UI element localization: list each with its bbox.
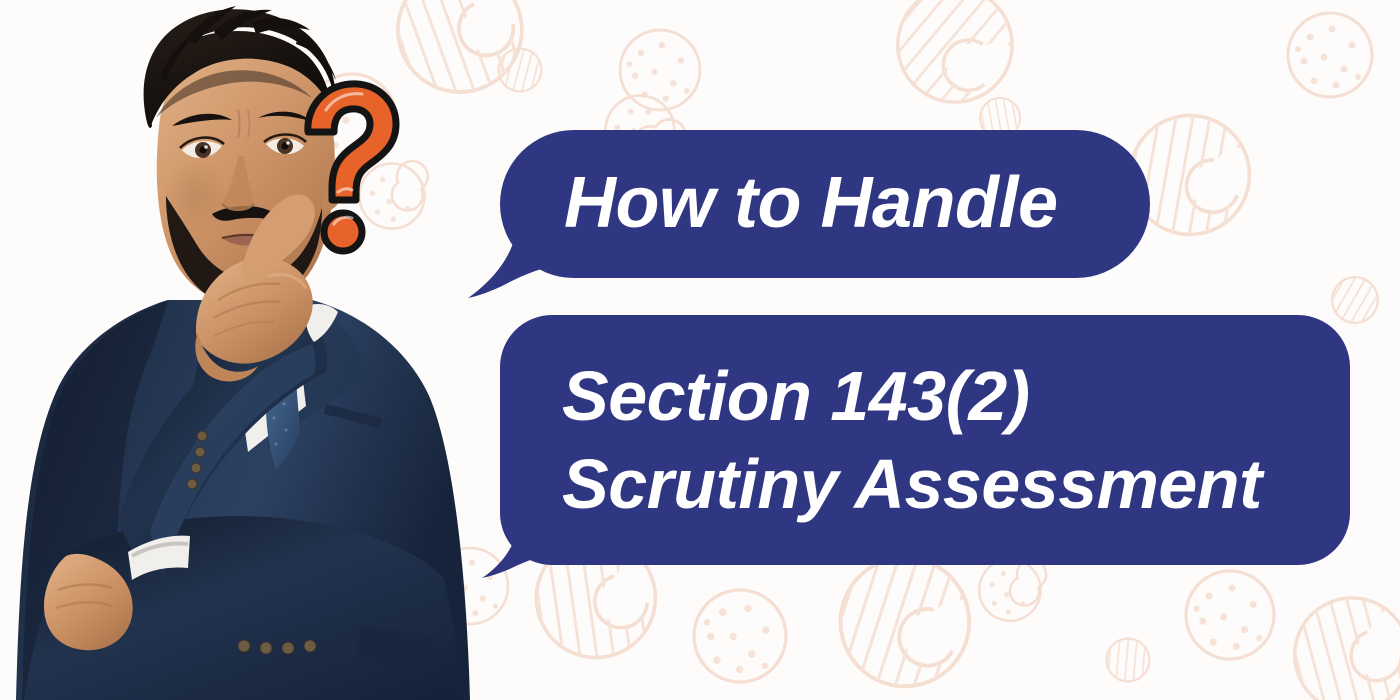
subject-text: Section 143(2) Scrutiny Assessment xyxy=(562,352,1262,528)
cookie-shape-dotted-cookie xyxy=(1186,571,1274,659)
person-photo-thinking-businessman xyxy=(0,0,520,700)
cookie-shape-dotted-cookie xyxy=(1288,13,1372,97)
cookie-shape-striped-cookie xyxy=(1279,574,1400,700)
question-mark-icon xyxy=(296,76,406,266)
banner-canvas: How to Handle Section 143(2) Scrutiny As… xyxy=(0,0,1400,700)
cookie-shape-striped-circle xyxy=(1104,630,1152,691)
speech-bubble-headline: How to Handle xyxy=(500,130,1150,278)
cookie-shape-dotted-cookie xyxy=(620,30,700,110)
cookie-shape-dotted-cookie xyxy=(685,581,794,690)
headline-text: How to Handle xyxy=(564,167,1058,240)
subject-line-2: Scrutiny Assessment xyxy=(562,440,1262,528)
cookie-shape-striped-cookie xyxy=(867,0,1043,134)
speech-bubble-subject: Section 143(2) Scrutiny Assessment xyxy=(500,315,1350,565)
subject-line-1: Section 143(2) xyxy=(562,352,1262,440)
